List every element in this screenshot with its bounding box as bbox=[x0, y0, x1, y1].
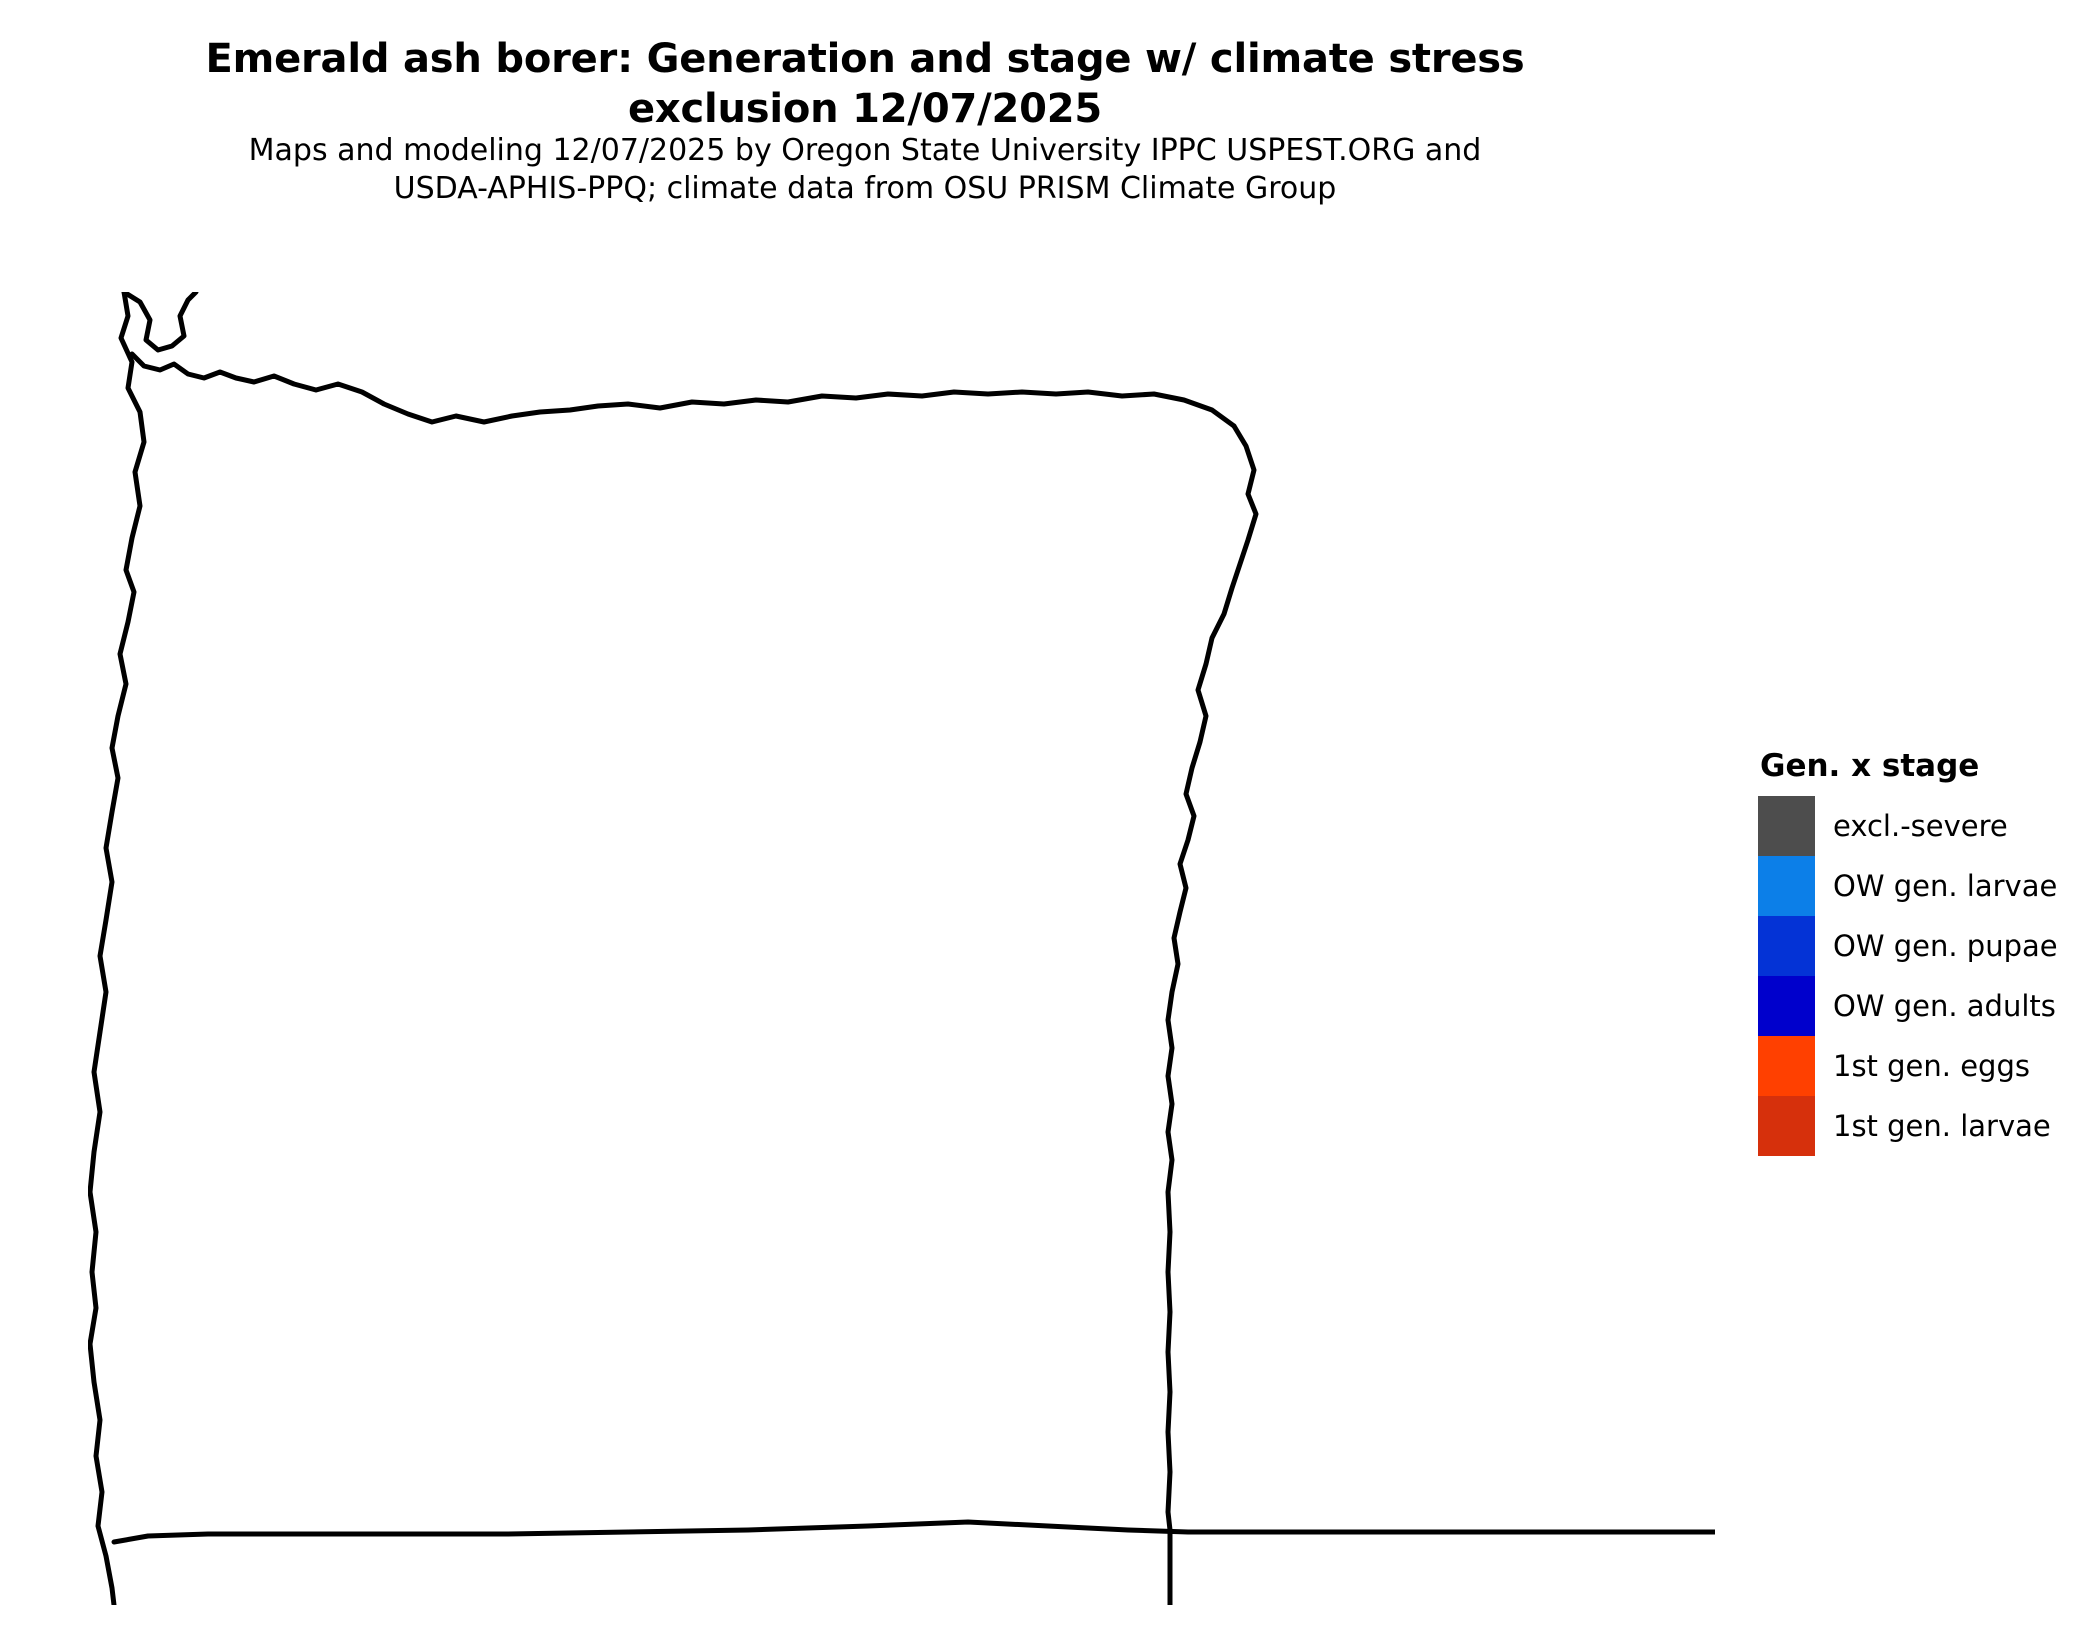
legend-swatch bbox=[1758, 796, 1815, 856]
legend-row[interactable]: OW gen. adults bbox=[1758, 976, 2088, 1036]
legend-label: 1st gen. eggs bbox=[1833, 1049, 2030, 1083]
subtitle-line-1: Maps and modeling 12/07/2025 by Oregon S… bbox=[90, 132, 1640, 170]
legend-label: excl.-severe bbox=[1833, 809, 2008, 843]
map-panel[interactable] bbox=[88, 292, 1715, 1605]
legend-row[interactable]: 1st gen. eggs bbox=[1758, 1036, 2088, 1096]
legend-swatch bbox=[1758, 1036, 1815, 1096]
legend: Gen. x stage excl.-severeOW gen. larvaeO… bbox=[1758, 748, 2088, 1156]
title-line-2: exclusion 12/07/2025 bbox=[90, 84, 1640, 134]
legend-label: OW gen. adults bbox=[1833, 989, 2056, 1023]
map-raster-layer bbox=[88, 292, 1715, 1605]
legend-label: 1st gen. larvae bbox=[1833, 1109, 2051, 1143]
legend-swatch bbox=[1758, 1096, 1815, 1156]
figure-root: Emerald ash borer: Generation and stage … bbox=[0, 0, 2100, 1645]
title-line-1: Emerald ash borer: Generation and stage … bbox=[90, 34, 1640, 84]
legend-row[interactable]: excl.-severe bbox=[1758, 796, 2088, 856]
legend-row[interactable]: OW gen. pupae bbox=[1758, 916, 2088, 976]
legend-label: OW gen. larvae bbox=[1833, 869, 2057, 903]
legend-label: OW gen. pupae bbox=[1833, 929, 2058, 963]
legend-swatch bbox=[1758, 916, 1815, 976]
legend-items: excl.-severeOW gen. larvaeOW gen. pupaeO… bbox=[1758, 796, 2088, 1156]
legend-swatch bbox=[1758, 976, 1815, 1036]
subtitle-line-2: USDA-APHIS-PPQ; climate data from OSU PR… bbox=[90, 170, 1640, 208]
legend-row[interactable]: OW gen. larvae bbox=[1758, 856, 2088, 916]
page-title: Emerald ash borer: Generation and stage … bbox=[90, 34, 1640, 134]
legend-row[interactable]: 1st gen. larvae bbox=[1758, 1096, 2088, 1156]
page-subtitle: Maps and modeling 12/07/2025 by Oregon S… bbox=[90, 132, 1640, 208]
legend-swatch bbox=[1758, 856, 1815, 916]
legend-title: Gen. x stage bbox=[1760, 748, 2088, 784]
